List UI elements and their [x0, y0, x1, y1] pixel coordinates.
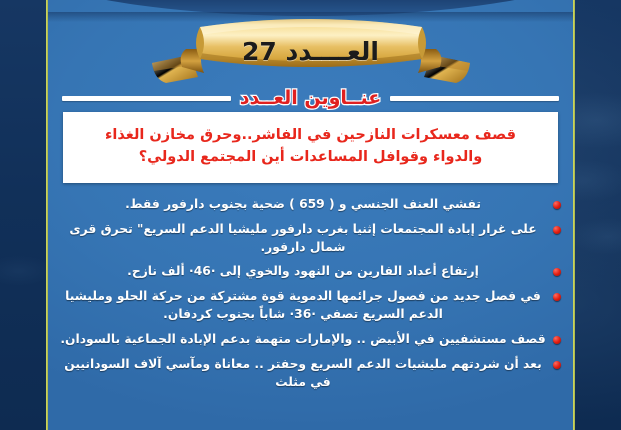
list-item-label: إرتفاع أعداد الفارين من النهود والخوي إل… [60, 263, 546, 281]
list-item[interactable]: على غرار إبادة المجتمعات إثنيا بغرب دارف… [60, 221, 561, 257]
list-item-label: على غرار إبادة المجتمعات إثنيا بغرب دارف… [60, 221, 546, 257]
list-item-label: تفشي العنف الجنسي و ( 659 ) ضحية بجنوب د… [60, 196, 546, 214]
bullet-dot-icon [553, 268, 561, 276]
list-item-label: قصف مستشفيين في الأبيض .. والإمارات متهم… [60, 331, 546, 349]
news-list: تفشي العنف الجنسي و ( 659 ) ضحية بجنوب د… [60, 196, 561, 430]
frame-border-left [46, 0, 48, 430]
frame-border-right [573, 0, 575, 430]
bullet-dot-icon [553, 336, 561, 344]
bullet-dot-icon [553, 293, 561, 301]
list-item[interactable]: إرتفاع أعداد الفارين من النهود والخوي إل… [60, 263, 561, 281]
list-item[interactable]: قصف مستشفيين في الأبيض .. والإمارات متهم… [60, 331, 561, 349]
bullet-dot-icon [553, 201, 561, 209]
issue-label: العــــدد 27 [48, 37, 573, 66]
newsletter-cover: العــــدد 27 عنــاوين العــدد قصف معسكرا… [0, 0, 621, 430]
title-rule-right [390, 96, 559, 101]
section-title-row: عنــاوين العــدد [62, 86, 559, 110]
issue-ribbon: العــــدد 27 [48, 13, 573, 83]
headline-text: قصف معسكرات النازحين في الفاشر..وحرق مخا… [79, 124, 542, 169]
list-item-label: في فصل جديد من فصول جرائمها الدموية قوة … [60, 288, 546, 324]
section-title: عنــاوين العــدد [240, 87, 382, 109]
headline-box: قصف معسكرات النازحين في الفاشر..وحرق مخا… [63, 112, 558, 183]
title-rule-left [62, 96, 231, 101]
bullet-dot-icon [553, 226, 561, 234]
list-item[interactable]: في فصل جديد من فصول جرائمها الدموية قوة … [60, 288, 561, 324]
list-item[interactable]: تفشي العنف الجنسي و ( 659 ) ضحية بجنوب د… [60, 196, 561, 214]
list-item-label: بعد أن شردتهم مليشيات الدعم السريع وحفتر… [60, 356, 546, 392]
bullet-dot-icon [553, 361, 561, 369]
content-panel: العــــدد 27 عنــاوين العــدد قصف معسكرا… [48, 0, 573, 430]
list-item[interactable]: بعد أن شردتهم مليشيات الدعم السريع وحفتر… [60, 356, 561, 392]
